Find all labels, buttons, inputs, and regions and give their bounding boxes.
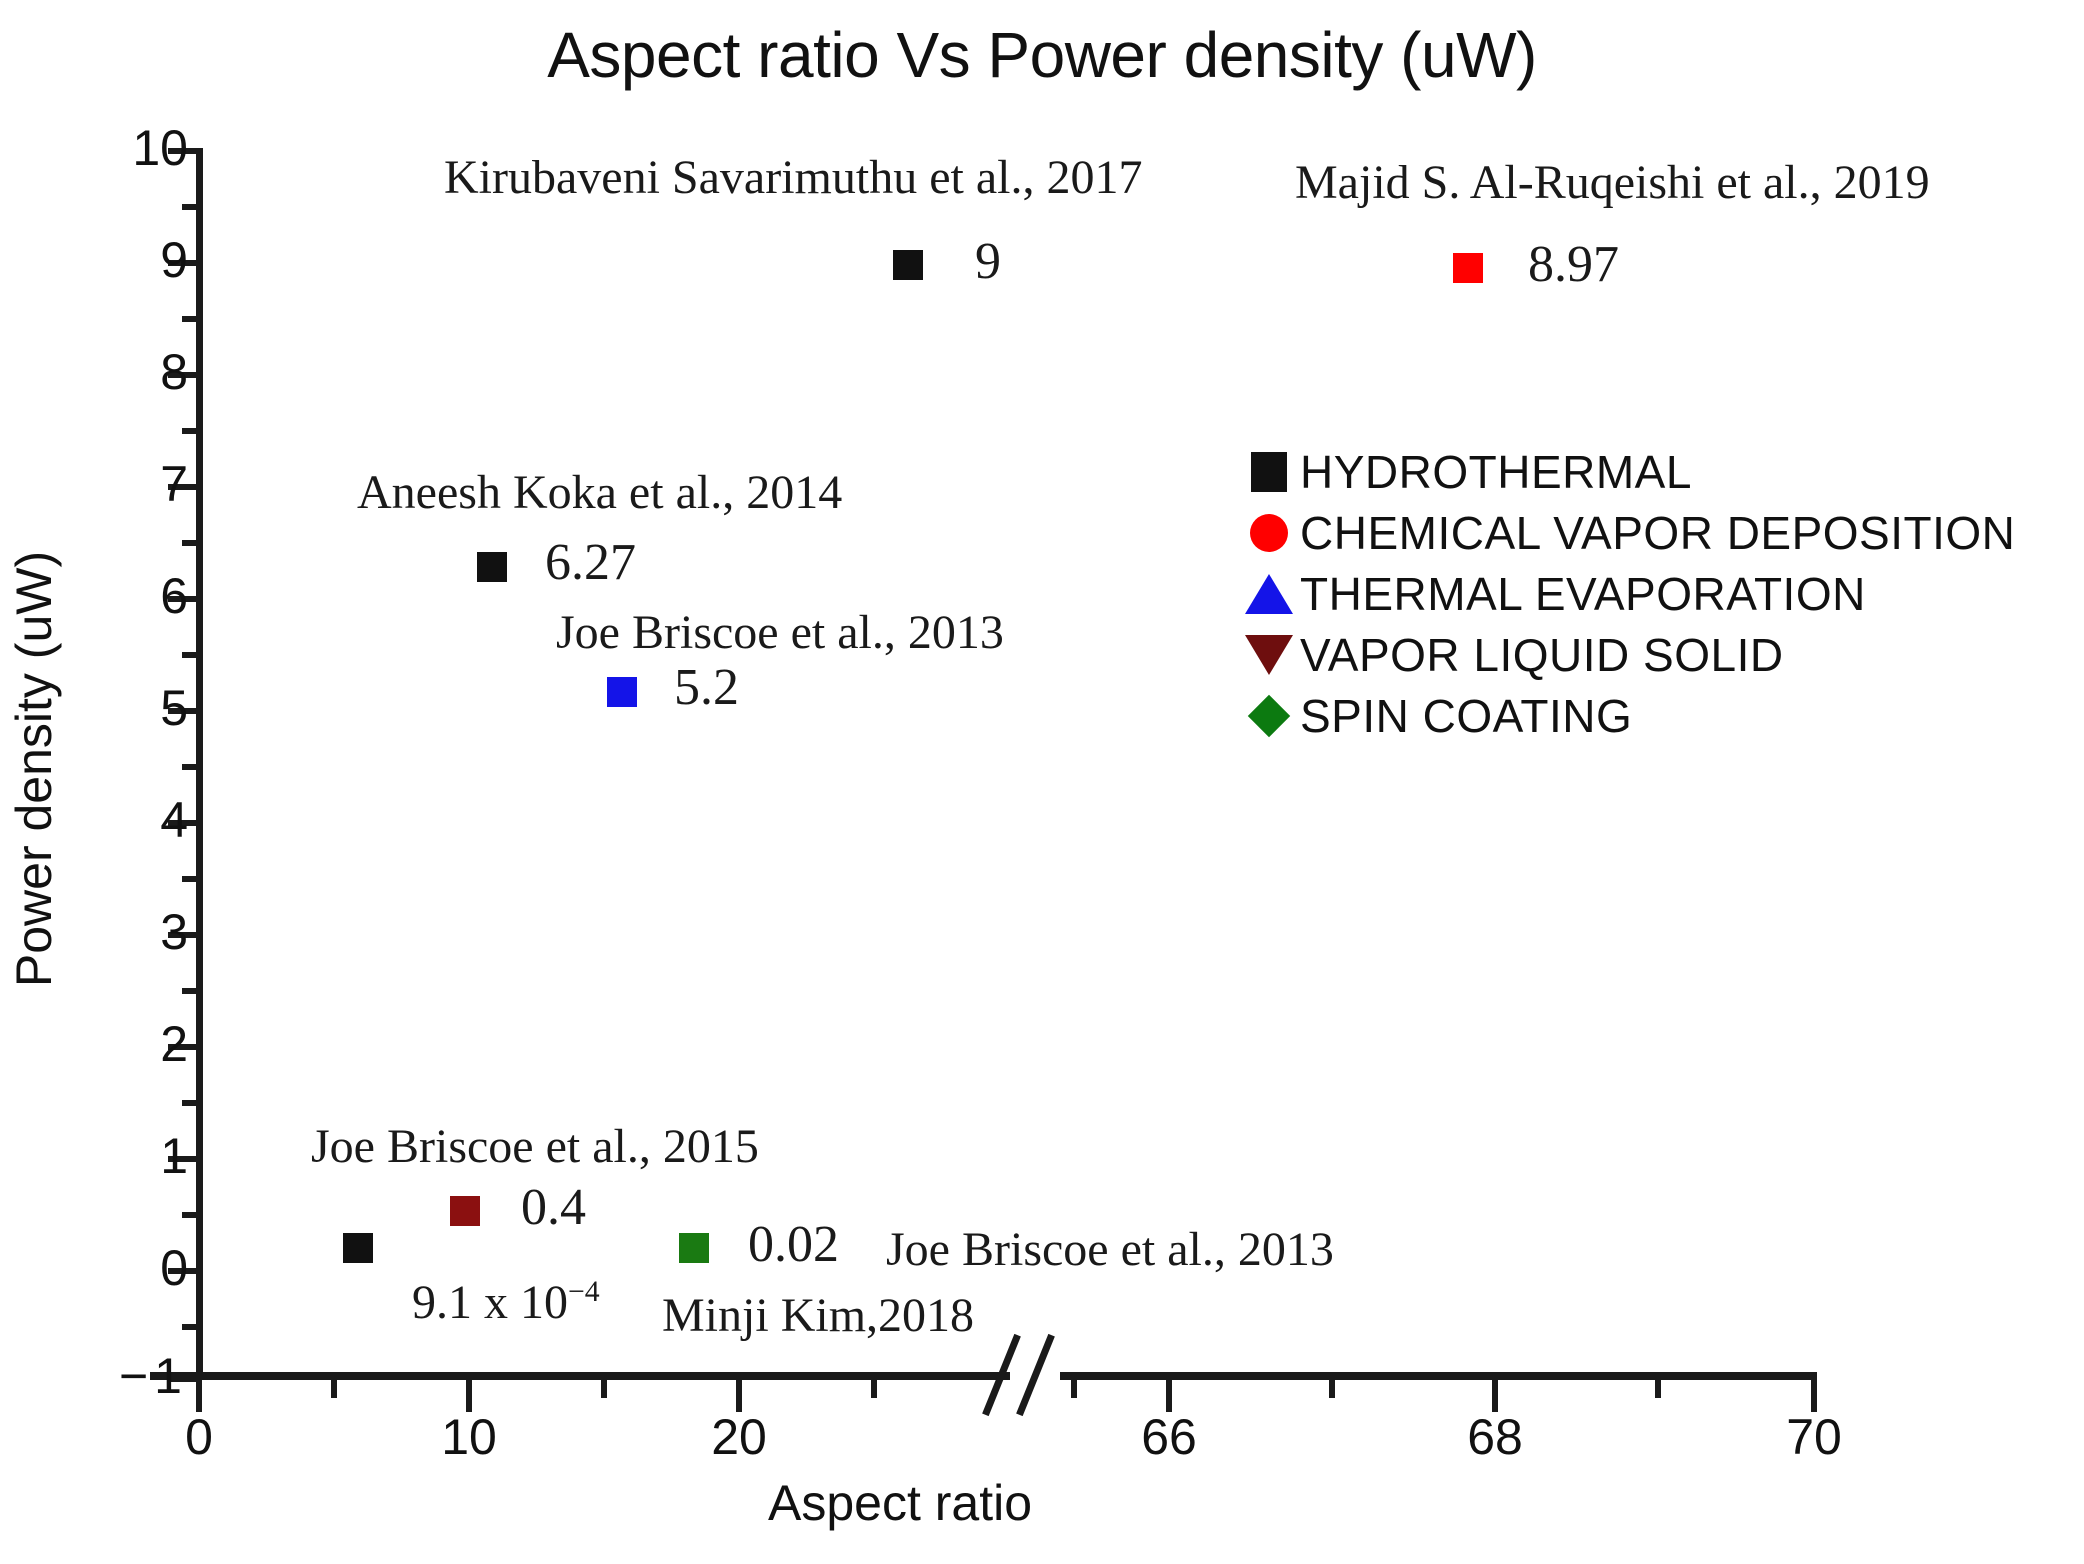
annotation-briscoe-2015: Joe Briscoe et al., 2015 — [311, 1119, 759, 1174]
annotation-kirubaveni: Kirubaveni Savarimuthu et al., 2017 — [444, 150, 1143, 205]
x-tick-69 — [1655, 1378, 1661, 1398]
x-tick-label-68: 68 — [1425, 1408, 1565, 1466]
x-tick-label-66: 66 — [1099, 1408, 1239, 1466]
x-axis-line-left — [150, 1372, 1010, 1380]
data-point-minji-value: 0.02 — [748, 1215, 839, 1274]
legend-label-spin-coating: SPIN COATING — [1300, 689, 1632, 743]
triangle-up-marker-icon — [1238, 574, 1300, 614]
data-point-minji-marker — [679, 1233, 709, 1263]
legend-label-thermal-evaporation: THERMAL EVAPORATION — [1300, 567, 1866, 621]
data-point-briscoe2015-value: 0.4 — [521, 1178, 586, 1237]
x-tick-66 — [1166, 1378, 1172, 1412]
legend-item-vapor-liquid-solid[interactable]: VAPOR LIQUID SOLID — [1238, 626, 2015, 684]
legend-item-hydrothermal[interactable]: HYDROTHERMAL — [1238, 443, 2015, 501]
y-axis-line — [196, 148, 203, 1378]
y-tick-6p5 — [182, 540, 202, 546]
x-tick-25 — [871, 1378, 877, 1398]
x-tick-label-0: 0 — [129, 1408, 269, 1466]
axis-break-icon — [986, 1330, 1066, 1422]
triangle-down-marker-icon — [1238, 635, 1300, 675]
x-tick-65 — [1071, 1378, 1077, 1398]
legend-label-chemical-vapor-deposition: CHEMICAL VAPOR DEPOSITION — [1300, 506, 2015, 560]
annotation-briscoe-2013-lower: Joe Briscoe et al., 2013 — [886, 1222, 1334, 1277]
y-tick-m0p5 — [182, 1324, 202, 1330]
data-point-briscoe2013-upper-marker — [607, 677, 637, 707]
annotation-aneesh: Aneesh Koka et al., 2014 — [357, 465, 842, 520]
y-tick-label-9: 9 — [68, 231, 188, 289]
y-tick-label-minus1: −1 — [68, 1347, 188, 1405]
y-tick-label-2: 2 — [68, 1015, 188, 1073]
y-tick-9p5 — [182, 204, 202, 210]
legend-label-hydrothermal: HYDROTHERMAL — [1300, 445, 1692, 499]
annotation-minji: Minji Kim,2018 — [662, 1288, 974, 1343]
y-tick-label-4: 4 — [68, 791, 188, 849]
value-exponent: −4 — [568, 1275, 600, 1308]
data-point-briscoe2015-marker — [450, 1196, 480, 1226]
legend-item-spin-coating[interactable]: SPIN COATING — [1238, 687, 2015, 745]
x-tick-label-10: 10 — [399, 1408, 539, 1466]
legend: HYDROTHERMAL CHEMICAL VAPOR DEPOSITION T… — [1238, 443, 2015, 748]
y-tick-7p5 — [182, 428, 202, 434]
y-tick-2p5 — [182, 988, 202, 994]
x-tick-label-20: 20 — [669, 1408, 809, 1466]
y-tick-label-5: 5 — [68, 679, 188, 737]
y-tick-label-8: 8 — [68, 343, 188, 401]
y-tick-label-3: 3 — [68, 903, 188, 961]
x-tick-0 — [196, 1378, 202, 1412]
circle-marker-icon — [1238, 514, 1300, 552]
y-tick-8p5 — [182, 316, 202, 322]
legend-item-thermal-evaporation[interactable]: THERMAL EVAPORATION — [1238, 565, 2015, 623]
data-point-majid-marker — [1453, 253, 1483, 283]
square-marker-icon — [1238, 452, 1300, 492]
y-tick-0p5 — [182, 1212, 202, 1218]
data-point-kirubaveni-value: 9 — [975, 232, 1001, 291]
diamond-marker-icon — [1238, 701, 1300, 731]
plot-area: 10 9 8 7 6 5 4 3 2 1 0 −1 0 10 20 66 68 … — [0, 0, 2084, 1564]
y-tick-label-6: 6 — [68, 567, 188, 625]
x-tick-68 — [1492, 1378, 1498, 1412]
y-tick-label-10: 10 — [68, 119, 188, 177]
y-tick-3p5 — [182, 876, 202, 882]
x-tick-15 — [601, 1378, 607, 1398]
annotation-majid: Majid S. Al-Ruqeishi et al., 2019 — [1295, 155, 1930, 210]
data-point-9p1e-4-value: 9.1 x 10−4 — [412, 1275, 600, 1330]
legend-item-chemical-vapor-deposition[interactable]: CHEMICAL VAPOR DEPOSITION — [1238, 504, 2015, 562]
x-tick-67 — [1329, 1378, 1335, 1398]
x-tick-5 — [331, 1378, 337, 1398]
y-tick-label-0: 0 — [68, 1239, 188, 1297]
y-tick-5p5 — [182, 652, 202, 658]
y-tick-1p5 — [182, 1100, 202, 1106]
annotation-briscoe-2013-upper: Joe Briscoe et al., 2013 — [556, 605, 1004, 660]
data-point-briscoe2013-upper-value: 5.2 — [674, 658, 739, 717]
data-point-aneesh-value: 6.27 — [545, 533, 636, 592]
value-mantissa: 9.1 x 10 — [412, 1276, 568, 1329]
y-tick-4p5 — [182, 764, 202, 770]
y-tick-label-1: 1 — [68, 1127, 188, 1185]
legend-label-vapor-liquid-solid: VAPOR LIQUID SOLID — [1300, 628, 1784, 682]
y-tick-label-7: 7 — [68, 455, 188, 513]
x-tick-20 — [736, 1378, 742, 1412]
data-point-9p1e-4-marker — [343, 1233, 373, 1263]
x-tick-label-70: 70 — [1744, 1408, 1884, 1466]
x-axis-line-right — [1060, 1372, 1817, 1380]
chart-figure: Aspect ratio Vs Power density (uW) Power… — [0, 0, 2084, 1564]
x-tick-10 — [466, 1378, 472, 1412]
x-tick-70 — [1811, 1378, 1817, 1412]
data-point-aneesh-marker — [477, 552, 507, 582]
data-point-majid-value: 8.97 — [1528, 235, 1619, 294]
data-point-kirubaveni-marker — [893, 250, 923, 280]
